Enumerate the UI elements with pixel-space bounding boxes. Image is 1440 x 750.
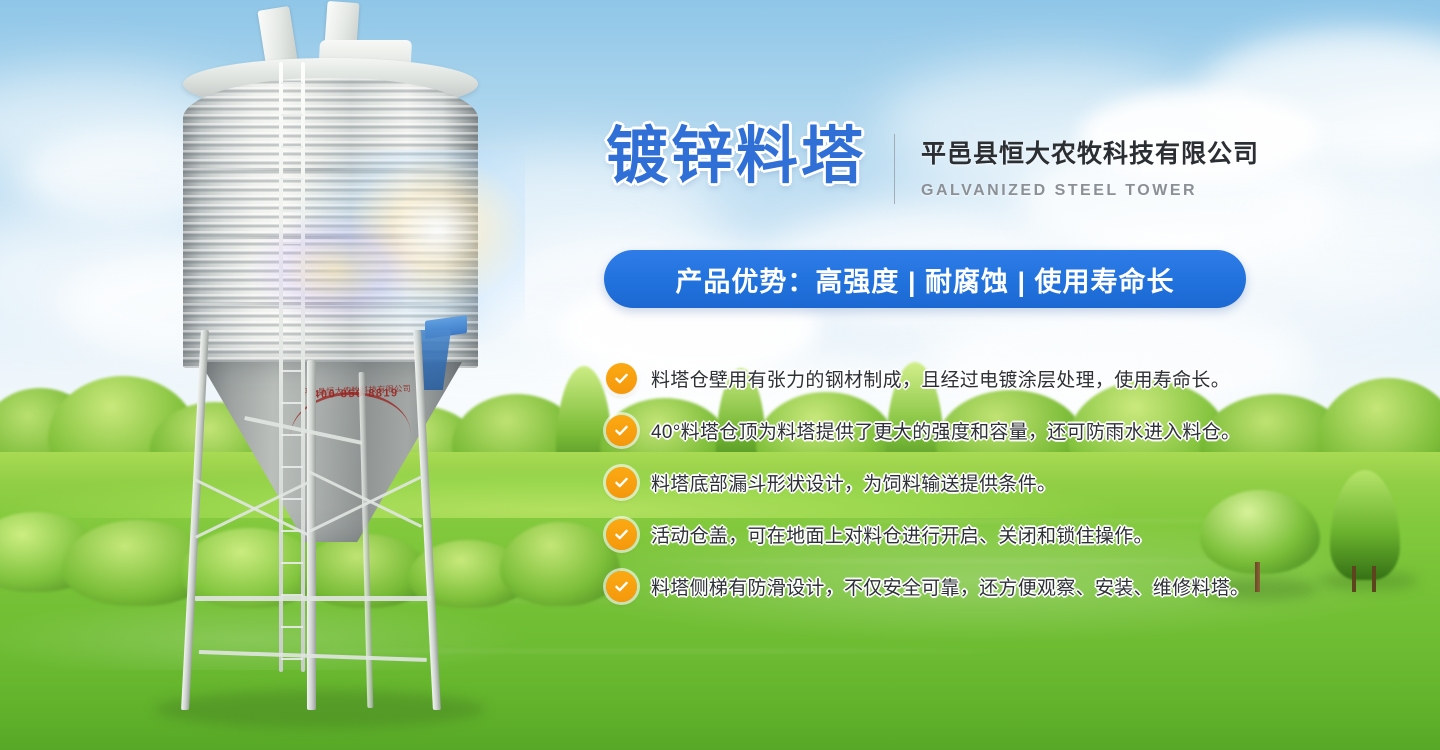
feature-text: 活动仓盖，可在地面上对料仓进行开启、关闭和锁住操作。 [651,521,1153,548]
check-circle-icon [606,415,637,446]
company-name: 平邑县恒大农牧科技有限公司 [921,134,1259,170]
advantage-pill: 产品优势：高强度 | 耐腐蚀 | 使用寿命长 [604,250,1246,308]
content-panel: 镀锌料塔 平邑县恒大农牧科技有限公司 GALVANIZED STEEL TOWE… [600,0,1440,750]
subtitle-english: GALVANIZED STEEL TOWER [921,182,1259,200]
feature-item: 40°料塔仓顶为料塔提供了更大的强度和容量，还可防雨水进入料仓。 [606,404,1406,456]
check-circle-icon [606,519,637,550]
feature-item: 料塔底部漏斗形状设计，为饲料输送提供条件。 [606,456,1406,508]
feature-item: 活动仓盖，可在地面上对料仓进行开启、关闭和锁住操作。 [606,508,1406,560]
advantage-label: 产品优势：高强度 | 耐腐蚀 | 使用寿命长 [675,260,1174,299]
title-divider [894,134,895,204]
feature-text: 40°料塔仓顶为料塔提供了更大的强度和容量，还可防雨水进入料仓。 [651,417,1240,444]
feature-text: 料塔侧梯有防滑设计，不仅安全可靠，还方便观察、安装、维修料塔。 [651,573,1249,600]
product-hero-banner: 平邑县恒大农牧科技有限公司 400 850 8819 [0,0,1440,750]
galvanized-silo-photo: 平邑县恒大农牧科技有限公司 400 850 8819 [95,0,565,750]
title-side-block: 平邑县恒大农牧科技有限公司 GALVANIZED STEEL TOWER [921,126,1259,200]
feature-text: 料塔仓壁用有张力的钢材制成，且经过电镀涂层处理，使用寿命长。 [651,365,1230,392]
headline-row: 镀锌料塔 平邑县恒大农牧科技有限公司 GALVANIZED STEEL TOWE… [606,126,1259,204]
check-circle-icon [606,571,637,602]
feature-list: 料塔仓壁用有张力的钢材制成，且经过电镀涂层处理，使用寿命长。 40°料塔仓顶为料… [606,352,1406,612]
feature-item: 料塔侧梯有防滑设计，不仅安全可靠，还方便观察、安装、维修料塔。 [606,560,1406,612]
feature-item: 料塔仓壁用有张力的钢材制成，且经过电镀涂层处理，使用寿命长。 [606,352,1406,404]
feature-text: 料塔底部漏斗形状设计，为饲料输送提供条件。 [651,469,1056,496]
page-title: 镀锌料塔 [606,126,866,188]
check-circle-icon [606,363,637,394]
silo-side-ladder [279,62,305,672]
check-circle-icon [606,467,637,498]
